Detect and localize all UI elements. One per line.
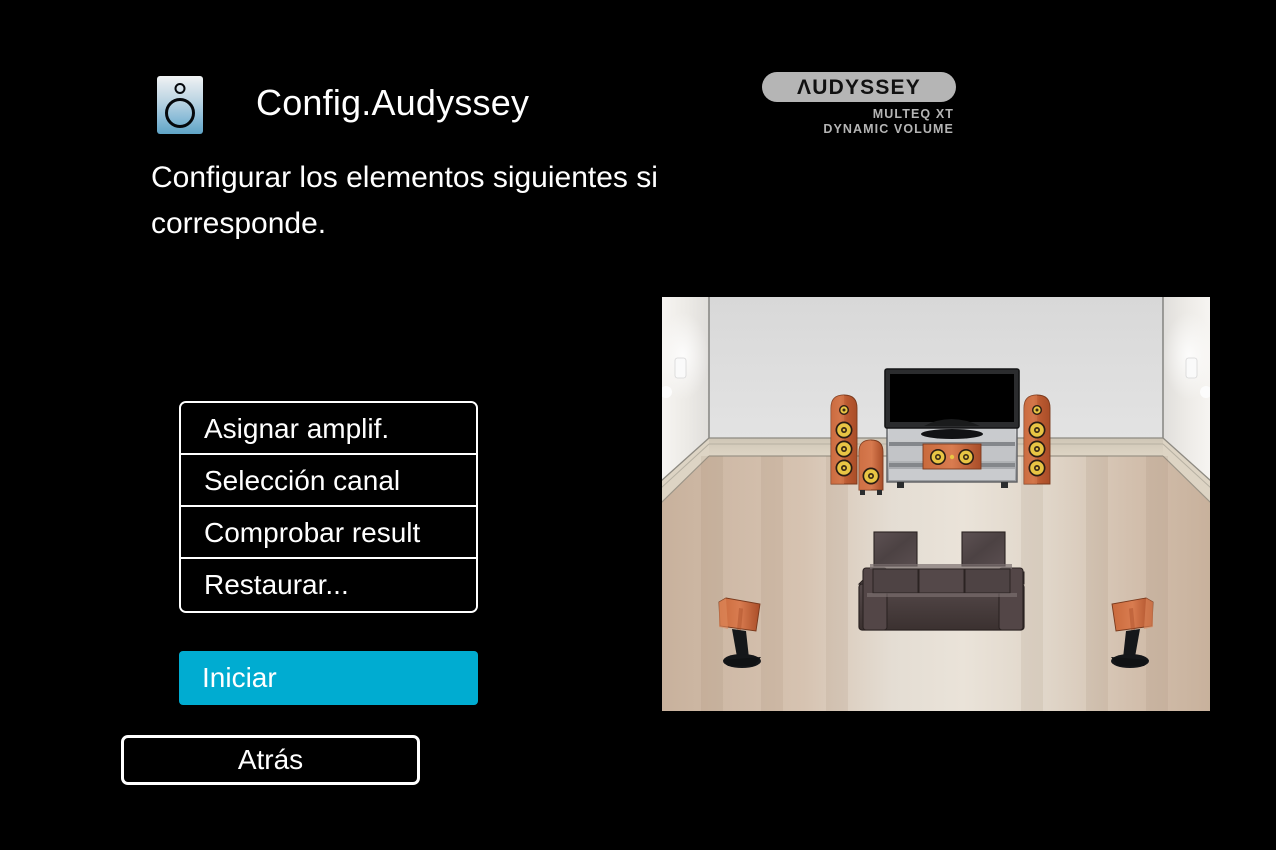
wall-sconce-right [1186, 358, 1197, 378]
front-left-speaker [831, 395, 857, 484]
couch-seat-right [965, 569, 1010, 593]
front-left-driver-2 [836, 441, 853, 458]
tv-stand-foot-right [1001, 482, 1008, 488]
front-right-speaker [1024, 395, 1050, 484]
tv-stand-foot-left [897, 482, 904, 488]
subwoofer [859, 440, 883, 495]
speaker-woofer-icon [165, 98, 195, 128]
audyssey-dynamic-volume-label: DYNAMIC VOLUME [762, 122, 958, 137]
front-right-driver-1 [1029, 422, 1046, 439]
couch-backrest-right [962, 532, 1005, 566]
center-driver-right [958, 449, 974, 465]
audyssey-wordmark: ΛUDYSSEY [797, 77, 921, 98]
start-button[interactable]: Iniciar [179, 651, 478, 705]
front-right-driver-3 [1029, 460, 1046, 477]
television [885, 369, 1019, 439]
menu-item-assign-amp[interactable]: Asignar amplif. [181, 403, 476, 455]
menu-item-restore[interactable]: Restaurar... [181, 559, 476, 611]
room-illustration [661, 296, 1211, 712]
subwoofer-driver [863, 468, 880, 485]
back-button[interactable]: Atrás [121, 735, 420, 785]
couch-seat-center [919, 569, 964, 593]
page-title: Config.Audyssey [256, 82, 529, 124]
front-left-driver-1 [836, 422, 853, 439]
couch-seat-left [873, 569, 918, 593]
audyssey-pill: ΛUDYSSEY [762, 72, 956, 102]
wall-sconce-left [675, 358, 686, 378]
front-left-tweeter [839, 405, 849, 415]
description-text: Configurar los elementos siguientes si c… [151, 155, 841, 247]
menu-item-channel-select[interactable]: Selección canal [181, 455, 476, 507]
couch-backrest-left [874, 532, 917, 566]
audyssey-setup-screen: Config.Audyssey ΛUDYSSEY MULTEQ XT DYNAM… [0, 0, 1276, 850]
center-driver-left [930, 449, 946, 465]
front-right-tweeter [1032, 405, 1042, 415]
header: Config.Audyssey ΛUDYSSEY MULTEQ XT DYNAM… [0, 0, 1276, 150]
menu-item-check-results[interactable]: Comprobar result [181, 507, 476, 559]
center-speaker [923, 444, 981, 469]
setup-menu-list: Asignar amplif. Selección canal Comproba… [179, 401, 478, 613]
audyssey-multeq-label: MULTEQ XT [762, 107, 958, 122]
front-right-driver-2 [1029, 441, 1046, 458]
audyssey-logo: ΛUDYSSEY MULTEQ XT DYNAMIC VOLUME [762, 72, 958, 138]
speaker-icon [157, 76, 203, 134]
speaker-tweeter-icon [175, 83, 186, 94]
front-left-driver-3 [836, 460, 853, 477]
